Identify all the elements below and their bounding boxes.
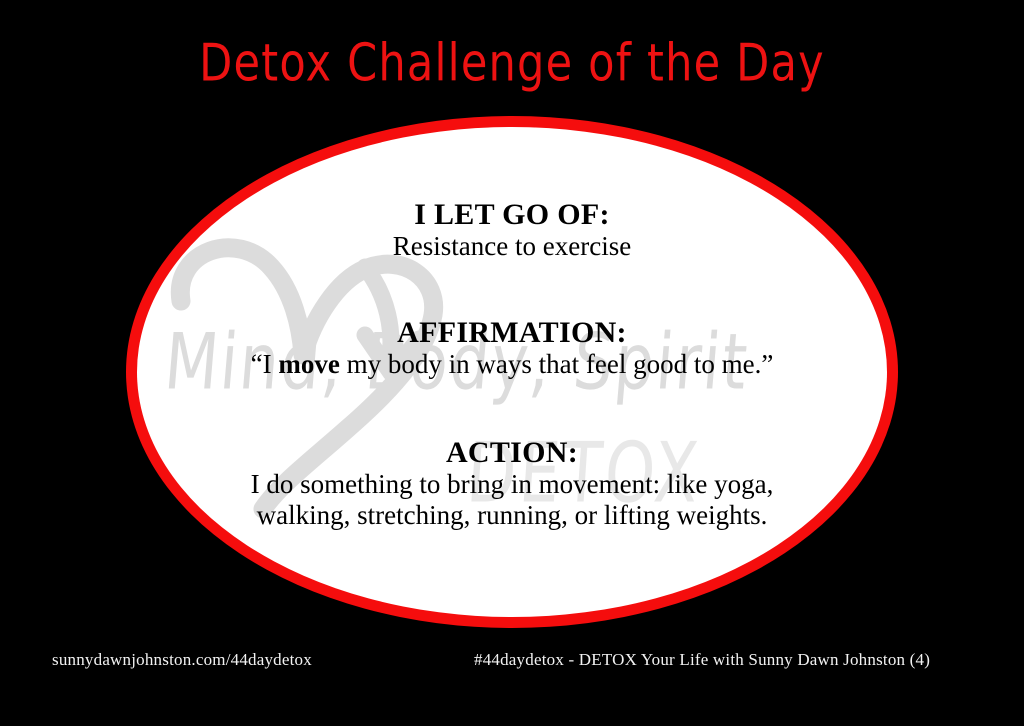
section-affirmation: AFFIRMATION: “I move my body in ways tha… [137, 317, 887, 380]
ellipse-content: I LET GO OF: Resistance to exercise AFFI… [137, 127, 887, 617]
affirmation-body-suffix: my body in ways that feel good to me.” [340, 349, 773, 379]
content-ellipse: Mind, Body, Spirit DETOX I LET GO OF: Re… [126, 116, 898, 628]
ellipse-white-face: Mind, Body, Spirit DETOX I LET GO OF: Re… [137, 127, 887, 617]
affirmation-heading: AFFIRMATION: [137, 317, 887, 349]
affirmation-body-emphasis: move [278, 349, 339, 379]
detox-challenge-card: Detox Challenge of the Day Mind, Body, S… [0, 0, 1024, 726]
section-let-go: I LET GO OF: Resistance to exercise [137, 199, 887, 262]
let-go-heading: I LET GO OF: [137, 199, 887, 231]
page-title: Detox Challenge of the Day [10, 38, 1014, 90]
let-go-body: Resistance to exercise [137, 231, 887, 262]
footer-website-url[interactable]: sunnydawnjohnston.com/44daydetox [52, 650, 312, 670]
affirmation-body-prefix: “I [251, 349, 279, 379]
action-body-line-1: I do something to bring in movement: lik… [137, 469, 887, 500]
action-body-line-2: walking, stretching, running, or lifting… [137, 500, 887, 531]
footer-campaign-label: #44daydetox - DETOX Your Life with Sunny… [474, 650, 930, 670]
affirmation-body: “I move my body in ways that feel good t… [137, 349, 887, 380]
action-heading: ACTION: [137, 437, 887, 469]
section-action: ACTION: I do something to bring in movem… [137, 437, 887, 531]
